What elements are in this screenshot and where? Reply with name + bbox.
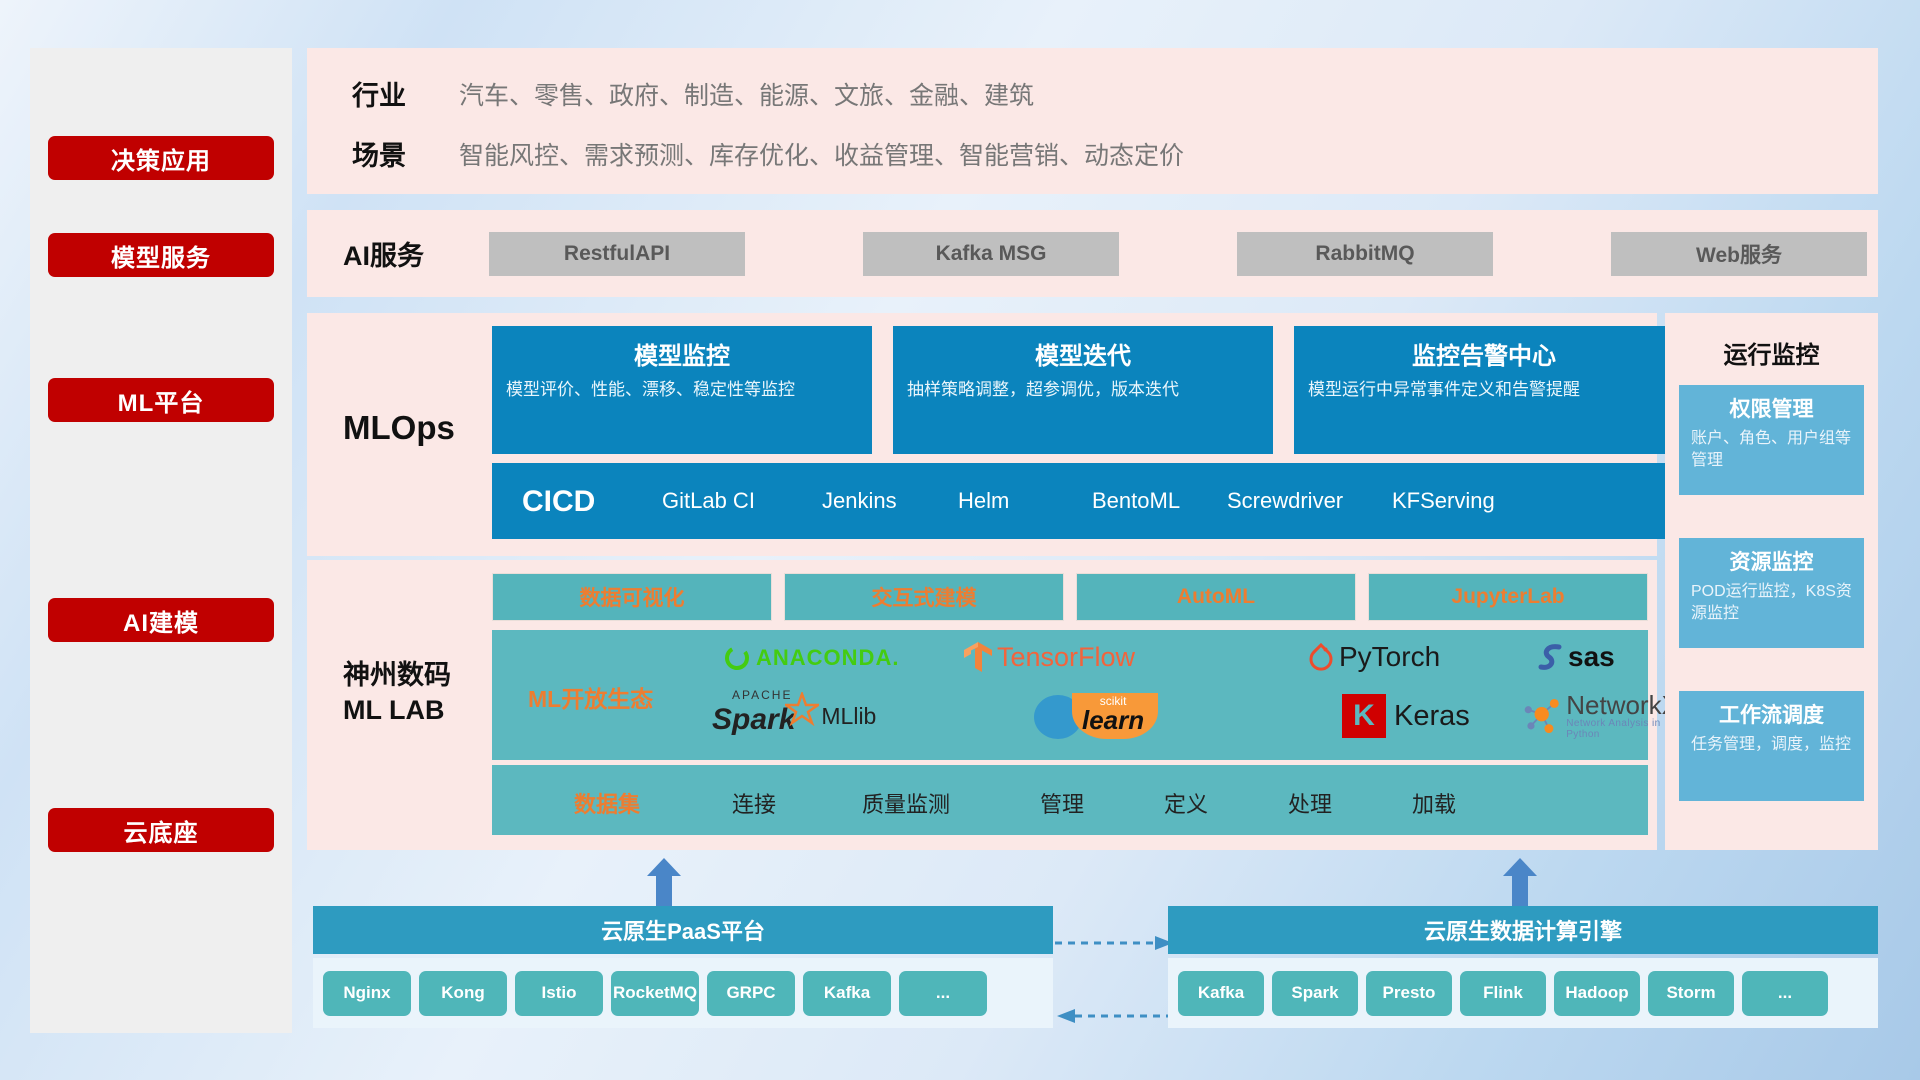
apache-text: APACHE xyxy=(732,688,792,702)
ai-service-chip-web-service[interactable]: Web服务 xyxy=(1611,232,1867,276)
industry-scene-panel: 行业 汽车、零售、政府、制造、能源、文旅、金融、建筑 场景 智能风控、需求预测、… xyxy=(307,48,1878,194)
mlops-card-alert-center[interactable]: 监控告警中心 模型运行中异常事件定义和告警提醒 xyxy=(1294,326,1674,454)
sas-text: sas xyxy=(1568,641,1615,673)
card-desc: 任务管理，调度，监控 xyxy=(1691,734,1852,756)
compute-chip-more[interactable]: ... xyxy=(1742,971,1828,1016)
ai-service-chip-restfulapi[interactable]: RestfulAPI xyxy=(489,232,745,276)
dataset-item-processing[interactable]: 处理 xyxy=(1288,787,1332,819)
ai-modeling-panel: 神州数码 ML LAB 数据可视化 交互式建模 AutoML JupyterLa… xyxy=(307,560,1657,850)
cicd-item-screwdriver[interactable]: Screwdriver xyxy=(1227,489,1349,512)
tensorflow-icon xyxy=(962,640,994,674)
industry-label: 行业 xyxy=(352,74,406,113)
anaconda-icon xyxy=(722,643,752,673)
mlops-panel: MLOps 模型监控 模型评价、性能、漂移、稳定性等监控 模型迭代 抽样策略调整… xyxy=(307,313,1657,556)
dataset-item-quality-monitoring[interactable]: 质量监测 xyxy=(862,787,950,819)
mlops-card-model-monitoring[interactable]: 模型监控 模型评价、性能、漂移、稳定性等监控 xyxy=(492,326,872,454)
ai-service-chip-rabbitmq[interactable]: RabbitMQ xyxy=(1237,232,1493,276)
dataset-row: 数据集 连接 质量监测 管理 定义 处理 加载 xyxy=(492,765,1648,835)
ai-service-label: AI服务 xyxy=(343,210,424,297)
compute-header: 云原生数据计算引擎 xyxy=(1168,906,1878,954)
card-desc: 账户、角色、用户组等管理 xyxy=(1691,428,1852,471)
monitoring-card-workflow[interactable]: 工作流调度 任务管理，调度，监控 xyxy=(1679,691,1864,801)
mllib-text: MLlib xyxy=(821,703,876,730)
arrow-up-compute xyxy=(1503,858,1537,906)
monitoring-title: 运行监控 xyxy=(1665,335,1878,370)
scikit-learn-logo: scikit learn xyxy=(1032,690,1158,742)
paas-chip-istio[interactable]: Istio xyxy=(515,971,603,1016)
monitoring-card-permission[interactable]: 权限管理 账户、角色、用户组等管理 xyxy=(1679,385,1864,495)
card-title: 模型监控 xyxy=(506,336,858,371)
paas-header: 云原生PaaS平台 xyxy=(313,906,1053,954)
keras-logo: K Keras xyxy=(1342,692,1470,740)
cicd-item-gitlab-ci[interactable]: GitLab CI xyxy=(662,489,792,512)
keras-text: Keras xyxy=(1394,700,1470,733)
dataset-label: 数据集 xyxy=(574,787,640,819)
ml-lab-line1: 神州数码 xyxy=(343,658,451,693)
card-desc: POD运行监控，K8S资源监控 xyxy=(1691,581,1852,624)
paas-chip-kafka[interactable]: Kafka xyxy=(803,971,891,1016)
card-desc: 模型评价、性能、漂移、稳定性等监控 xyxy=(506,379,858,402)
paas-chip-more[interactable]: ... xyxy=(899,971,987,1016)
sidebar-label: 模型服务 xyxy=(111,238,211,273)
sas-logo: sas xyxy=(1537,637,1615,677)
dataset-item-definition[interactable]: 定义 xyxy=(1164,787,1208,819)
cicd-bar[interactable]: CICD GitLab CI Jenkins Helm BentoML Scre… xyxy=(492,463,1674,539)
card-title: 权限管理 xyxy=(1691,393,1852,423)
ml-lab-line2: ML LAB xyxy=(343,693,451,728)
dataset-item-loading[interactable]: 加载 xyxy=(1412,787,1456,819)
sas-icon xyxy=(1537,641,1567,673)
learn-text: learn xyxy=(1082,707,1144,733)
sidebar-item-ml-platform[interactable]: ML平台 xyxy=(48,378,274,422)
sidebar-label: 决策应用 xyxy=(111,141,211,176)
diagram-canvas: 决策应用 模型服务 ML平台 AI建模 云底座 行业 汽车、零售、政府、制造、能… xyxy=(0,0,1920,1080)
networkx-logo: NetworkX Network Analysis in Python xyxy=(1522,692,1684,740)
pytorch-icon xyxy=(1307,641,1335,673)
monitoring-card-resource[interactable]: 资源监控 POD运行监控，K8S资源监控 xyxy=(1679,538,1864,648)
tool-chip-jupyterlab[interactable]: JupyterLab xyxy=(1368,573,1648,621)
sidebar-label: 云底座 xyxy=(124,813,199,848)
compute-chip-flink[interactable]: Flink xyxy=(1460,971,1546,1016)
spark-mllib-logo: APACHE Spark MLlib xyxy=(712,690,876,742)
tool-chip-automl[interactable]: AutoML xyxy=(1076,573,1356,621)
scene-label: 场景 xyxy=(352,134,406,173)
scene-value: 智能风控、需求预测、库存优化、收益管理、智能营销、动态定价 xyxy=(459,136,1184,172)
tool-chip-interactive-modeling[interactable]: 交互式建模 xyxy=(784,573,1064,621)
pytorch-logo: PyTorch xyxy=(1307,635,1440,679)
cicd-item-kfserving[interactable]: KFServing xyxy=(1392,489,1504,512)
anaconda-logo: ANACONDA. xyxy=(722,638,899,678)
spark-text: Spark xyxy=(712,703,795,737)
monitoring-panel: 运行监控 权限管理 账户、角色、用户组等管理 资源监控 POD运行监控，K8S资… xyxy=(1665,313,1878,850)
card-title: 模型迭代 xyxy=(907,336,1259,371)
sidebar-item-model-service[interactable]: 模型服务 xyxy=(48,233,274,277)
card-desc: 模型运行中异常事件定义和告警提醒 xyxy=(1308,379,1660,402)
sidebar-item-ai-modeling[interactable]: AI建模 xyxy=(48,598,274,642)
paas-chip-strip: Nginx Kong Istio RocketMQ GRPC Kafka ... xyxy=(313,958,1053,1028)
scikit-orange-blob: scikit learn xyxy=(1072,693,1158,739)
cicd-item-bentoml[interactable]: BentoML xyxy=(1092,489,1184,512)
industry-value: 汽车、零售、政府、制造、能源、文旅、金融、建筑 xyxy=(459,76,1034,112)
dataset-item-connect[interactable]: 连接 xyxy=(732,787,776,819)
networkx-icon xyxy=(1522,694,1563,738)
sidebar-label: AI建模 xyxy=(123,603,199,638)
sidebar-item-cloud-base[interactable]: 云底座 xyxy=(48,808,274,852)
cicd-title: CICD xyxy=(522,485,595,519)
cicd-item-jenkins[interactable]: Jenkins xyxy=(822,489,908,512)
card-desc: 抽样策略调整，超参调优，版本迭代 xyxy=(907,379,1259,402)
card-title: 监控告警中心 xyxy=(1308,336,1660,371)
compute-chip-hadoop[interactable]: Hadoop xyxy=(1554,971,1640,1016)
ml-ecosystem-label: ML开放生态 xyxy=(528,680,653,714)
arrow-left-exchange xyxy=(1055,1008,1175,1024)
paas-chip-grpc[interactable]: GRPC xyxy=(707,971,795,1016)
ai-service-panel: AI服务 RestfulAPI Kafka MSG RabbitMQ Web服务 xyxy=(307,210,1878,297)
paas-chip-kong[interactable]: Kong xyxy=(419,971,507,1016)
paas-chip-rocketmq[interactable]: RocketMQ xyxy=(611,971,699,1016)
pytorch-text: PyTorch xyxy=(1339,641,1440,673)
ml-ecosystem-box: ML开放生态 ANACONDA. TensorFlow xyxy=(492,630,1648,760)
ml-lab-label: 神州数码 ML LAB xyxy=(343,658,451,727)
sidebar-item-decision-app[interactable]: 决策应用 xyxy=(48,136,274,180)
compute-chip-strip: Kafka Spark Presto Flink Hadoop Storm ..… xyxy=(1168,958,1878,1028)
anaconda-text: ANACONDA. xyxy=(756,645,899,671)
arrow-up-paas xyxy=(647,858,681,906)
compute-chip-kafka[interactable]: Kafka xyxy=(1178,971,1264,1016)
card-title: 资源监控 xyxy=(1691,546,1852,576)
sidebar-panel: 决策应用 模型服务 ML平台 AI建模 云底座 xyxy=(30,48,292,1033)
compute-chip-spark[interactable]: Spark xyxy=(1272,971,1358,1016)
keras-k-glyph: K xyxy=(1353,699,1375,733)
tool-chip-data-visualization[interactable]: 数据可视化 xyxy=(492,573,772,621)
card-title: 工作流调度 xyxy=(1691,699,1852,729)
cicd-item-helm[interactable]: Helm xyxy=(958,489,1044,512)
sidebar-label: ML平台 xyxy=(118,383,205,418)
ai-service-chip-kafka-msg[interactable]: Kafka MSG xyxy=(863,232,1119,276)
arrow-right-exchange xyxy=(1055,935,1175,951)
compute-chip-presto[interactable]: Presto xyxy=(1366,971,1452,1016)
compute-chip-storm[interactable]: Storm xyxy=(1648,971,1734,1016)
tensorflow-logo: TensorFlow xyxy=(962,635,1135,679)
tensorflow-text: TensorFlow xyxy=(997,642,1135,673)
mlops-label: MLOps xyxy=(343,363,455,493)
dataset-item-management[interactable]: 管理 xyxy=(1040,787,1084,819)
keras-icon: K xyxy=(1342,694,1386,738)
mlops-card-model-iteration[interactable]: 模型迭代 抽样策略调整，超参调优，版本迭代 xyxy=(893,326,1273,454)
paas-chip-nginx[interactable]: Nginx xyxy=(323,971,411,1016)
